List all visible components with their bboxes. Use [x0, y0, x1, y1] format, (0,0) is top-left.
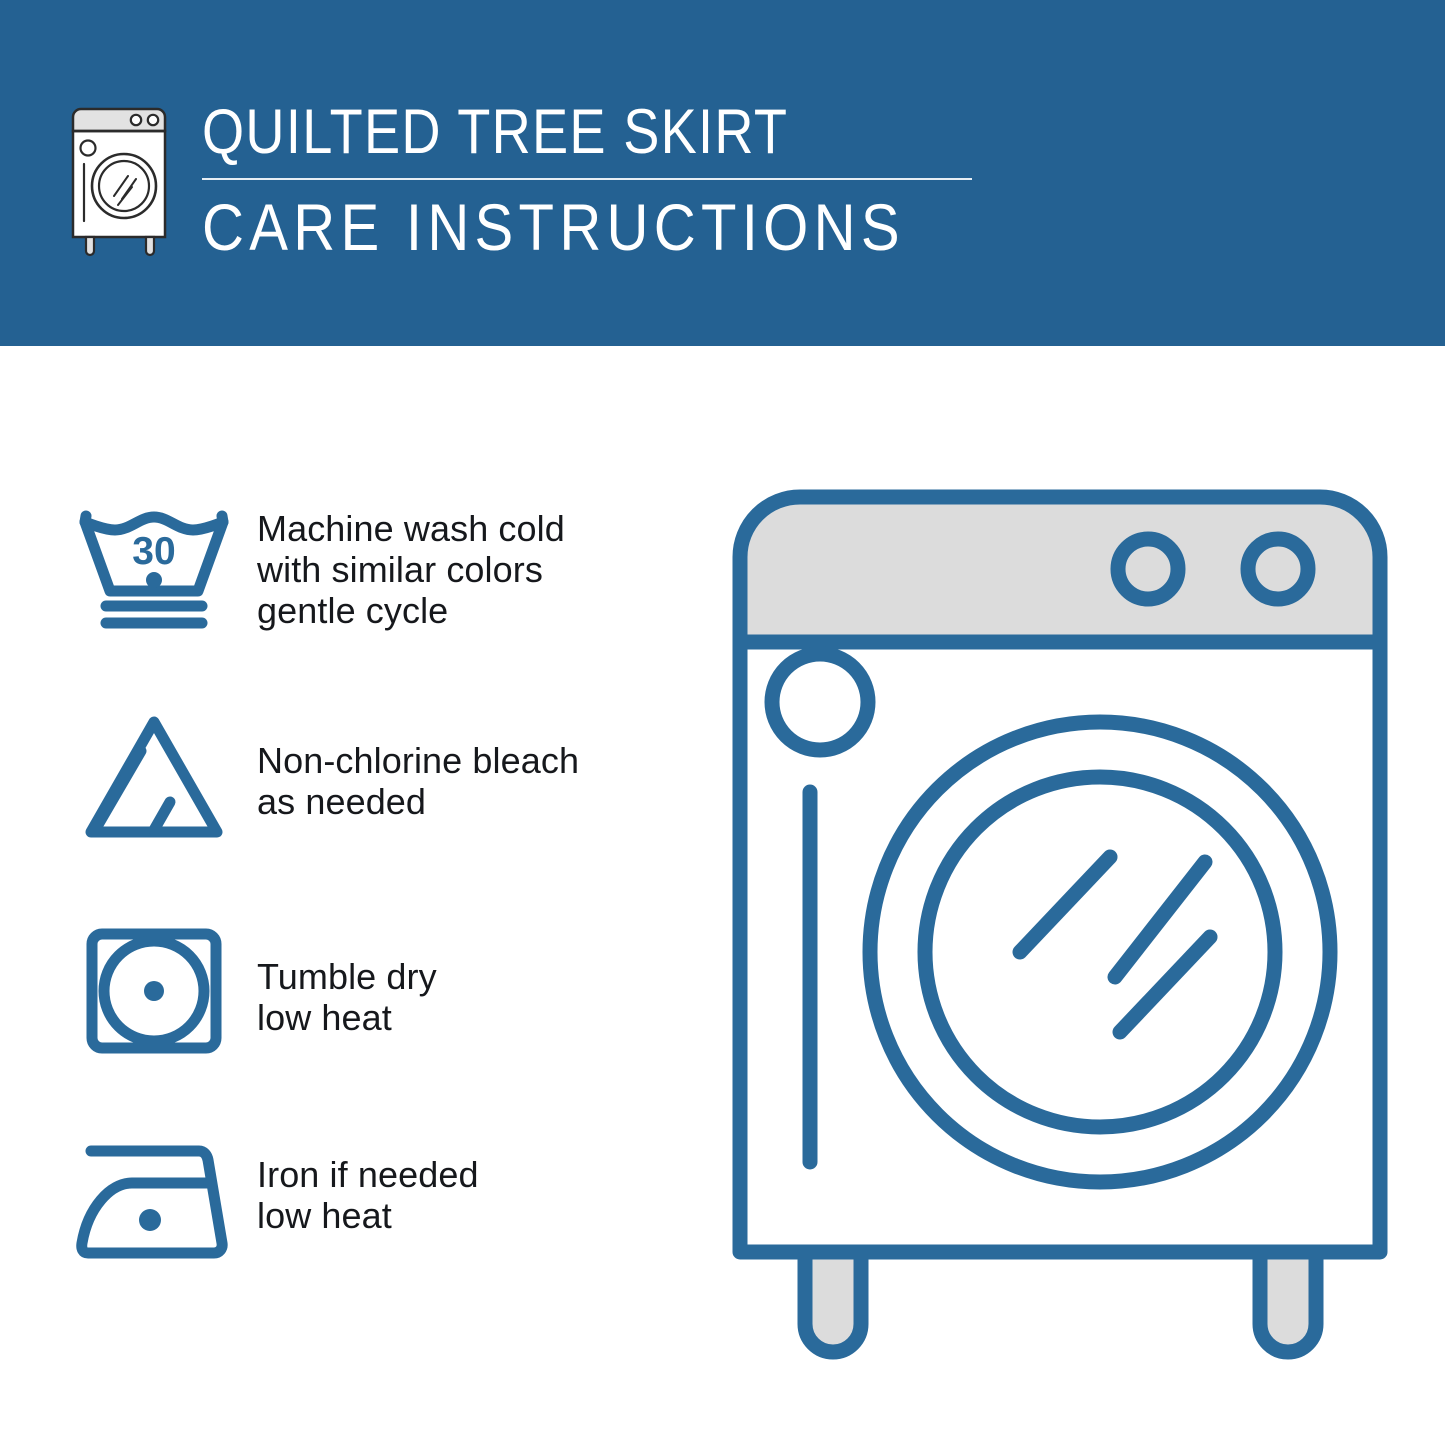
care-line: gentle cycle: [257, 590, 565, 631]
care-item-machine-wash: 30 Machine wash cold with similar colors…: [70, 490, 690, 700]
washer-knob-right-icon[interactable]: [1248, 539, 1308, 599]
washing-machine-illustration: [700, 462, 1420, 1382]
care-icon-slot: [70, 910, 240, 1066]
washer-dispenser-icon[interactable]: [772, 654, 868, 750]
title-divider: [202, 178, 972, 180]
page-header: QUILTED TREE SKIRT CARE INSTRUCTIONS: [0, 0, 1445, 346]
non-chlorine-bleach-icon: [70, 706, 238, 856]
care-text-iron: Iron if needed low heat: [240, 1120, 479, 1236]
care-instructions-page: QUILTED TREE SKIRT CARE INSTRUCTIONS 30: [0, 0, 1445, 1445]
tumble-dry-low-icon: [70, 916, 238, 1066]
dry-heat-dot-icon: [144, 981, 164, 1001]
care-line: Machine wash cold: [257, 508, 565, 549]
title-block: QUILTED TREE SKIRT CARE INSTRUCTIONS: [202, 95, 1001, 264]
machine-wash-30-icon: 30: [70, 496, 238, 646]
care-line: as needed: [257, 781, 579, 822]
page-subtitle: CARE INSTRUCTIONS: [202, 190, 905, 264]
care-icon-slot: [70, 1120, 240, 1276]
care-instruction-list: 30 Machine wash cold with similar colors…: [70, 490, 690, 1330]
care-item-bleach: Non-chlorine bleach as needed: [70, 700, 690, 910]
iron-low-heat-icon: [70, 1126, 238, 1276]
care-line: low heat: [257, 1195, 479, 1236]
wash-temperature-label: 30: [132, 530, 175, 573]
washer-leg-right: [1260, 1252, 1316, 1352]
care-line: with similar colors: [257, 549, 565, 590]
care-text-machine-wash: Machine wash cold with similar colors ge…: [240, 490, 565, 631]
washer-door-inner: [925, 777, 1275, 1127]
care-line: Non-chlorine bleach: [257, 740, 579, 781]
care-line: Tumble dry: [257, 956, 437, 997]
care-icon-slot: 30: [70, 490, 240, 646]
iron-heat-dot-icon: [139, 1209, 161, 1231]
care-text-tumble-dry: Tumble dry low heat: [240, 910, 437, 1038]
care-line: Iron if needed: [257, 1154, 479, 1195]
page-title: QUILTED TREE SKIRT: [202, 97, 889, 167]
washer-knob-left-icon[interactable]: [1118, 539, 1178, 599]
care-line: low heat: [257, 997, 437, 1038]
care-icon-slot: [70, 700, 240, 856]
care-text-bleach: Non-chlorine bleach as needed: [240, 700, 579, 822]
care-item-tumble-dry: Tumble dry low heat: [70, 910, 690, 1120]
care-item-iron: Iron if needed low heat: [70, 1120, 690, 1330]
washing-machine-icon: [62, 103, 180, 258]
washer-leg-left: [805, 1252, 861, 1352]
wash-dot-icon: [146, 572, 162, 588]
header-content: QUILTED TREE SKIRT CARE INSTRUCTIONS: [62, 95, 1001, 264]
